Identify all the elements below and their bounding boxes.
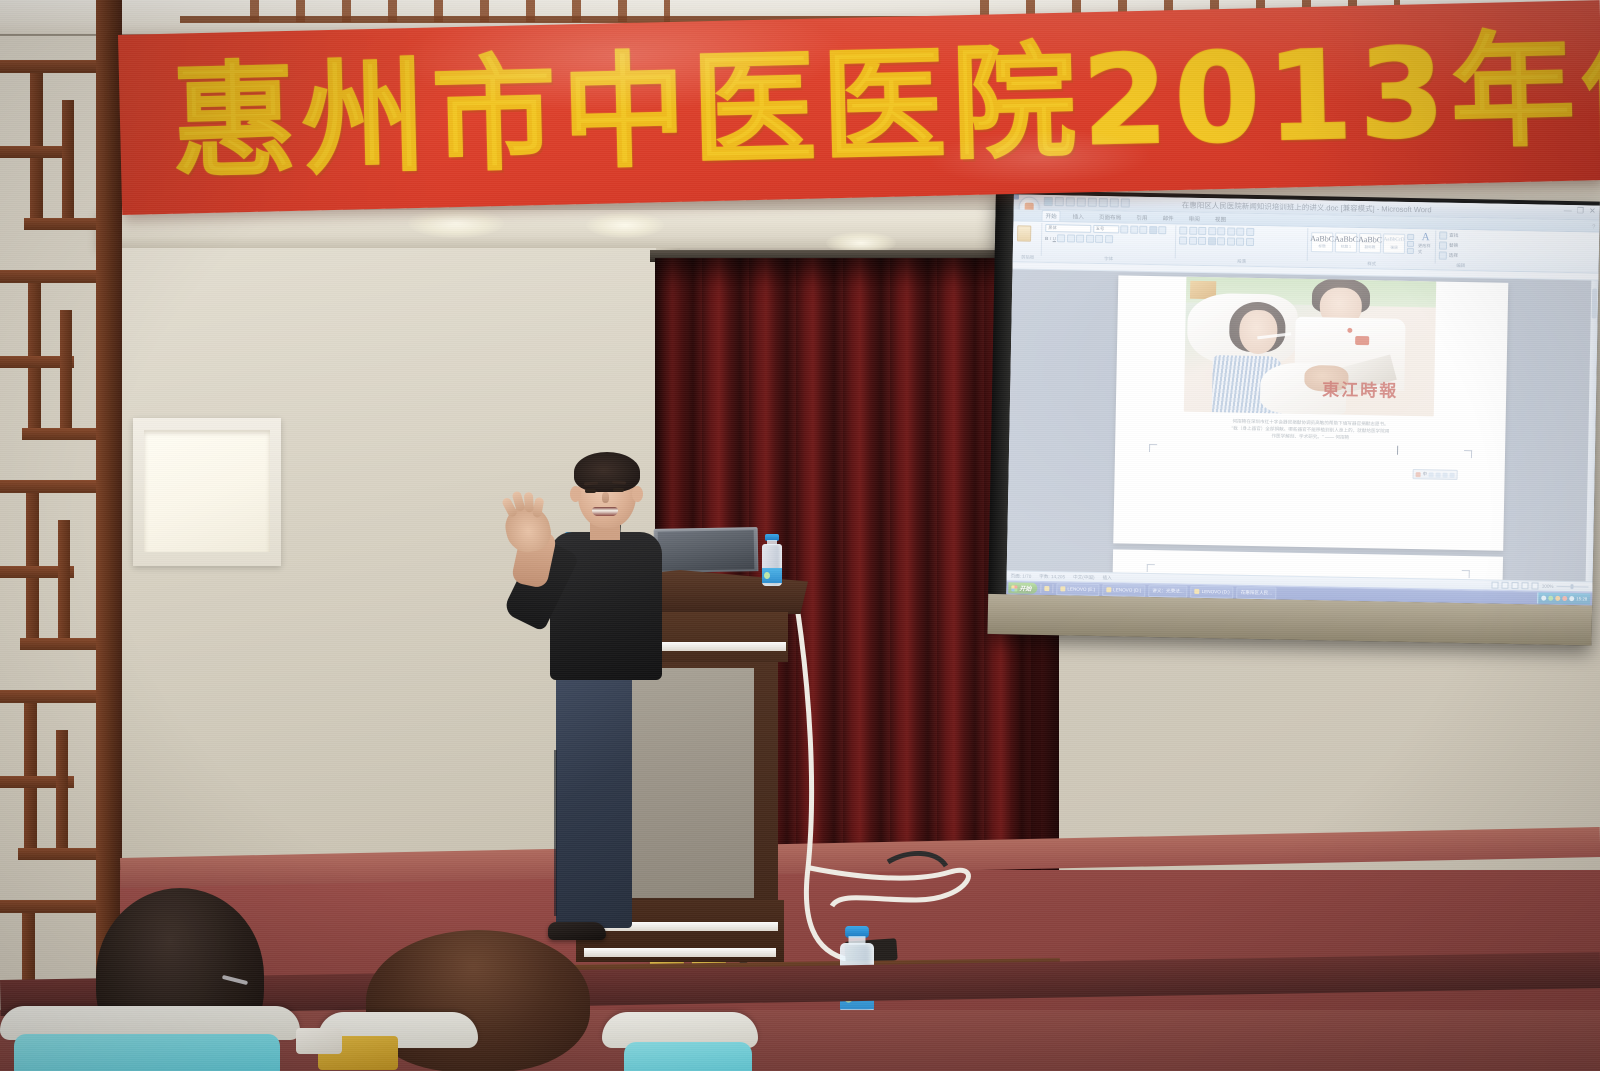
- multilevel-list-icon[interactable]: [1198, 227, 1206, 235]
- align-left-icon[interactable]: [1179, 237, 1187, 245]
- window-controls[interactable]: — ❐ ✕: [1564, 206, 1596, 216]
- subscript-icon[interactable]: [1067, 234, 1075, 242]
- bold-icon[interactable]: B: [1045, 235, 1048, 240]
- finger: [532, 497, 544, 518]
- speaker-shoe: [548, 922, 606, 940]
- redo-icon[interactable]: [1066, 197, 1075, 206]
- shrink-font-icon[interactable]: [1130, 226, 1138, 234]
- taskbar-item-label: 在惠阳区人民...: [1241, 589, 1273, 596]
- taskbar-item[interactable]: LENOVO (D:): [1191, 585, 1234, 598]
- font-name-combo[interactable]: 黑体: [1045, 224, 1091, 233]
- lattice-screen-post: [96, 0, 122, 1010]
- folder-icon: [1195, 589, 1200, 594]
- text-caret: [1397, 446, 1398, 455]
- margin-mark: [1464, 450, 1472, 458]
- ribbon-group-label: 剪贴板: [1015, 254, 1041, 260]
- margin-mark: [1462, 570, 1470, 578]
- zoom-level[interactable]: 100%: [1542, 584, 1554, 589]
- audience-paper: [296, 1028, 342, 1054]
- save-icon[interactable]: [1044, 197, 1053, 206]
- select-icon[interactable]: [1439, 252, 1447, 260]
- speaker: [520, 450, 680, 970]
- leg-seam: [554, 750, 557, 916]
- document-page[interactable]: 東江時報 何招艳在深圳市红十字会器官捐献协调员高敏的帮助下填写器官捐献志愿书。 …: [1113, 275, 1508, 550]
- style-name: 副标题: [1365, 245, 1376, 250]
- restore-icon[interactable]: ❐: [1577, 206, 1584, 215]
- web-layout-view-icon[interactable]: [1512, 582, 1519, 589]
- style-preview: AaBbC: [1358, 235, 1382, 243]
- outline-view-icon[interactable]: [1522, 582, 1529, 589]
- tab-references[interactable]: 引用: [1133, 213, 1150, 223]
- quick-access-toolbar[interactable]: [1044, 197, 1130, 208]
- paste-icon[interactable]: [1017, 225, 1031, 241]
- highlight-color-icon[interactable]: [1095, 235, 1103, 243]
- email-icon[interactable]: [1110, 198, 1119, 207]
- ribbon-group-font[interactable]: 黑体 五号 B I U: [1043, 223, 1177, 259]
- taskbar-separator: [1040, 584, 1041, 593]
- justify-icon[interactable]: [1207, 237, 1215, 245]
- full-screen-view-icon[interactable]: [1502, 582, 1509, 589]
- keyboard-icon[interactable]: [1436, 472, 1441, 477]
- bullets-icon[interactable]: [1179, 227, 1187, 235]
- windows-logo-icon: [1011, 585, 1017, 591]
- wall-niche-frame: [133, 418, 281, 566]
- style-preview: AaBbC: [1334, 235, 1358, 243]
- word-count: 字数: 14,205: [1039, 573, 1065, 579]
- taskbar-item-label: LENOVO (D:): [1113, 587, 1141, 593]
- ribbon-group-label: 字体: [1043, 255, 1175, 264]
- print-icon[interactable]: [1088, 198, 1097, 207]
- document-canvas[interactable]: 東江時報 何招艳在深圳市红十字会器官捐献协调员高敏的帮助下填写器官捐献志愿书。 …: [1007, 269, 1599, 581]
- ime-language-bar[interactable]: 中: [1413, 469, 1459, 480]
- chair-back: [14, 1034, 280, 1071]
- newspaper-watermark: 東江時報: [1322, 375, 1398, 401]
- speaker-legs: [556, 672, 632, 928]
- tab-insert[interactable]: 插入: [1070, 211, 1087, 221]
- bottle-label: [762, 568, 782, 583]
- tab-mailings[interactable]: 邮件: [1159, 213, 1176, 223]
- page-indicator: 页面: 1/70: [1011, 573, 1032, 579]
- zoom-slider[interactable]: [1556, 586, 1588, 588]
- qat-dropdown-icon[interactable]: [1121, 198, 1130, 207]
- system-tray[interactable]: 15:28: [1537, 592, 1590, 604]
- distributed-icon[interactable]: [1217, 237, 1225, 245]
- soft-keyboard-icon[interactable]: [1443, 472, 1448, 477]
- margin-mark: [1147, 564, 1155, 572]
- ribbon-group-label: 编辑: [1437, 262, 1485, 269]
- ribbon-group-label: 段落: [1177, 257, 1307, 265]
- chair-left[interactable]: [0, 1006, 300, 1071]
- font-color-icon[interactable]: [1105, 235, 1113, 243]
- style-emphasis[interactable]: AaBbCcD 强调: [1383, 233, 1405, 253]
- punctuation-icon[interactable]: [1429, 472, 1434, 477]
- speaker-hair: [574, 452, 640, 492]
- style-name: 标题: [1318, 244, 1325, 249]
- scrollbar-thumb[interactable]: [1592, 288, 1598, 318]
- align-center-icon[interactable]: [1188, 237, 1196, 245]
- change-styles-icon: A: [1422, 232, 1430, 242]
- style-name: 强调: [1390, 245, 1397, 250]
- ime-tray-icon[interactable]: [1569, 596, 1574, 601]
- taskbar-item-label: LENOVO (D:): [1202, 589, 1230, 595]
- start-label: 开始: [1019, 584, 1031, 593]
- tab-home[interactable]: 开始: [1041, 210, 1060, 221]
- word-window[interactable]: 在惠阳区人民医院新闻知识培训班上的讲义.doc [兼容模式] - Microso…: [1006, 194, 1600, 605]
- align-right-icon[interactable]: [1198, 237, 1206, 245]
- photo-caption[interactable]: 何招艳在深圳市红十字会器官捐献协调员高敏的帮助下填写器官捐献志愿书。 "我（身上…: [1135, 416, 1485, 444]
- numbering-icon[interactable]: [1189, 227, 1197, 235]
- event-banner: 惠州市中医医院2013年信息宣传: [118, 0, 1600, 215]
- change-styles-button[interactable]: A 更改样式: [1418, 232, 1433, 255]
- folder-icon: [1106, 587, 1111, 592]
- draft-view-icon[interactable]: [1532, 582, 1539, 589]
- superscript-icon[interactable]: [1076, 235, 1084, 243]
- close-icon[interactable]: ✕: [1589, 206, 1596, 215]
- borders-icon[interactable]: [1245, 238, 1253, 246]
- clock[interactable]: 15:28: [1576, 596, 1587, 601]
- style-preview: AaBbCcD: [1384, 236, 1405, 244]
- ceiling-downlight-icon: [586, 212, 664, 238]
- margin-mark: [1149, 444, 1157, 452]
- wall-niche-inner: [144, 430, 270, 552]
- ear: [632, 486, 643, 502]
- find-label[interactable]: 查找: [1449, 233, 1458, 239]
- taskbar-separator: [1052, 584, 1053, 593]
- ear: [570, 486, 581, 502]
- tab-view[interactable]: 视图: [1212, 214, 1229, 224]
- font-size-combo[interactable]: 五号: [1093, 225, 1119, 233]
- italic-icon[interactable]: I: [1050, 236, 1051, 241]
- start-button[interactable]: 开始: [1008, 582, 1037, 594]
- taskbar-item[interactable]: 讲义：光荣法...: [1148, 584, 1188, 597]
- style-name: 标题 1: [1341, 244, 1351, 249]
- volume-icon[interactable]: [1548, 596, 1553, 601]
- antivirus-icon[interactable]: [1555, 596, 1560, 601]
- char-border-icon[interactable]: [1158, 226, 1166, 234]
- strikethrough-icon[interactable]: [1057, 234, 1065, 242]
- sort-icon[interactable]: [1236, 228, 1244, 236]
- shading-icon[interactable]: [1236, 238, 1244, 246]
- tab-page-layout[interactable]: 页面布局: [1096, 212, 1125, 223]
- ime-logo-icon[interactable]: [1416, 472, 1421, 477]
- style-subtitle[interactable]: AaBbC 副标题: [1359, 232, 1381, 252]
- tab-review[interactable]: 审阅: [1186, 214, 1203, 224]
- ceiling-downlight-icon: [408, 208, 504, 238]
- underline-icon[interactable]: U: [1053, 236, 1056, 241]
- language-indicator[interactable]: 中文(中国): [1073, 574, 1095, 580]
- ribbon-group-paragraph[interactable]: 段落: [1177, 225, 1309, 261]
- preview-icon[interactable]: [1099, 198, 1108, 207]
- projected-image: 在惠阳区人民医院新闻知识培训班上的讲义.doc [兼容模式] - Microso…: [1006, 194, 1600, 605]
- open-icon[interactable]: [1077, 198, 1086, 207]
- zoom-slider-knob[interactable]: [1570, 584, 1573, 589]
- eye: [585, 489, 596, 493]
- text-effects-icon[interactable]: [1086, 235, 1094, 243]
- clear-format-icon[interactable]: [1139, 226, 1147, 234]
- ime-mode-label[interactable]: 中: [1423, 471, 1428, 477]
- increase-indent-icon[interactable]: [1217, 227, 1225, 235]
- style-heading[interactable]: AaBbC 标题: [1311, 232, 1333, 252]
- taskbar-item[interactable]: LENOVO (E:): [1056, 583, 1099, 596]
- ribbon-group-clipboard[interactable]: 剪贴板: [1015, 222, 1043, 256]
- grow-font-icon[interactable]: [1120, 225, 1128, 233]
- line-spacing-icon[interactable]: [1226, 237, 1234, 245]
- taskbar-item-label: LENOVO (E:): [1067, 586, 1095, 592]
- uniform-badge: [1355, 336, 1369, 345]
- taskbar-item[interactable]: LENOVO (D:): [1102, 584, 1145, 597]
- uniform-badge: [1347, 328, 1352, 333]
- select-label[interactable]: 选择: [1449, 253, 1458, 259]
- styles-scroll[interactable]: [1407, 233, 1414, 253]
- replace-icon[interactable]: [1439, 242, 1447, 250]
- ribbon-group-label: 样式: [1309, 260, 1435, 268]
- folder-icon: [1060, 586, 1065, 591]
- minimize-icon[interactable]: —: [1564, 206, 1572, 215]
- chevron-up-icon[interactable]: [1407, 233, 1414, 239]
- bottle-body: [762, 544, 782, 586]
- decrease-indent-icon[interactable]: [1208, 227, 1216, 235]
- nose: [602, 492, 609, 503]
- phonetic-guide-icon[interactable]: [1149, 226, 1157, 234]
- chair-back: [624, 1042, 752, 1071]
- find-icon[interactable]: [1439, 232, 1447, 240]
- update-icon[interactable]: [1562, 596, 1567, 601]
- change-styles-label: 更改样式: [1418, 243, 1433, 255]
- presentation-photo: 在惠阳区人民医院新闻知识培训班上的讲义.doc [兼容模式] - Microso…: [0, 0, 1600, 1071]
- ribbon-group-styles[interactable]: AaBbC 标题 AaBbC 标题 1 AaBbC 副标题: [1309, 228, 1437, 263]
- projection-screen: 在惠阳区人民医院新闻知识培训班上的讲义.doc [兼容模式] - Microso…: [987, 190, 1599, 646]
- help-icon[interactable]: ?: [1592, 224, 1595, 230]
- eye: [613, 488, 624, 492]
- quick-launch-icon[interactable]: [1044, 586, 1049, 591]
- style-preview: AaBbC: [1310, 235, 1334, 243]
- ime-toolbox-icon[interactable]: [1450, 472, 1455, 477]
- taskbar-item-label: 讲义：光荣法...: [1152, 588, 1184, 595]
- mouth: [592, 507, 618, 516]
- replace-label[interactable]: 替换: [1449, 243, 1458, 249]
- insert-mode-indicator[interactable]: 插入: [1102, 575, 1111, 581]
- asian-layout-icon[interactable]: [1227, 227, 1235, 235]
- style-heading-1[interactable]: AaBbC 标题 1: [1335, 232, 1357, 252]
- ribbon-group-editing[interactable]: 查找 替换 选择 编辑: [1437, 230, 1486, 264]
- news-photo[interactable]: 東江時報: [1184, 277, 1437, 417]
- chevron-down-icon[interactable]: [1407, 240, 1414, 246]
- taskbar-item[interactable]: 在惠阳区人民...: [1237, 586, 1277, 599]
- show-marks-icon[interactable]: [1246, 228, 1254, 236]
- undo-icon[interactable]: [1055, 197, 1064, 206]
- network-icon[interactable]: [1541, 596, 1546, 601]
- print-layout-view-icon[interactable]: [1492, 582, 1499, 589]
- styles-more-icon[interactable]: [1407, 247, 1414, 253]
